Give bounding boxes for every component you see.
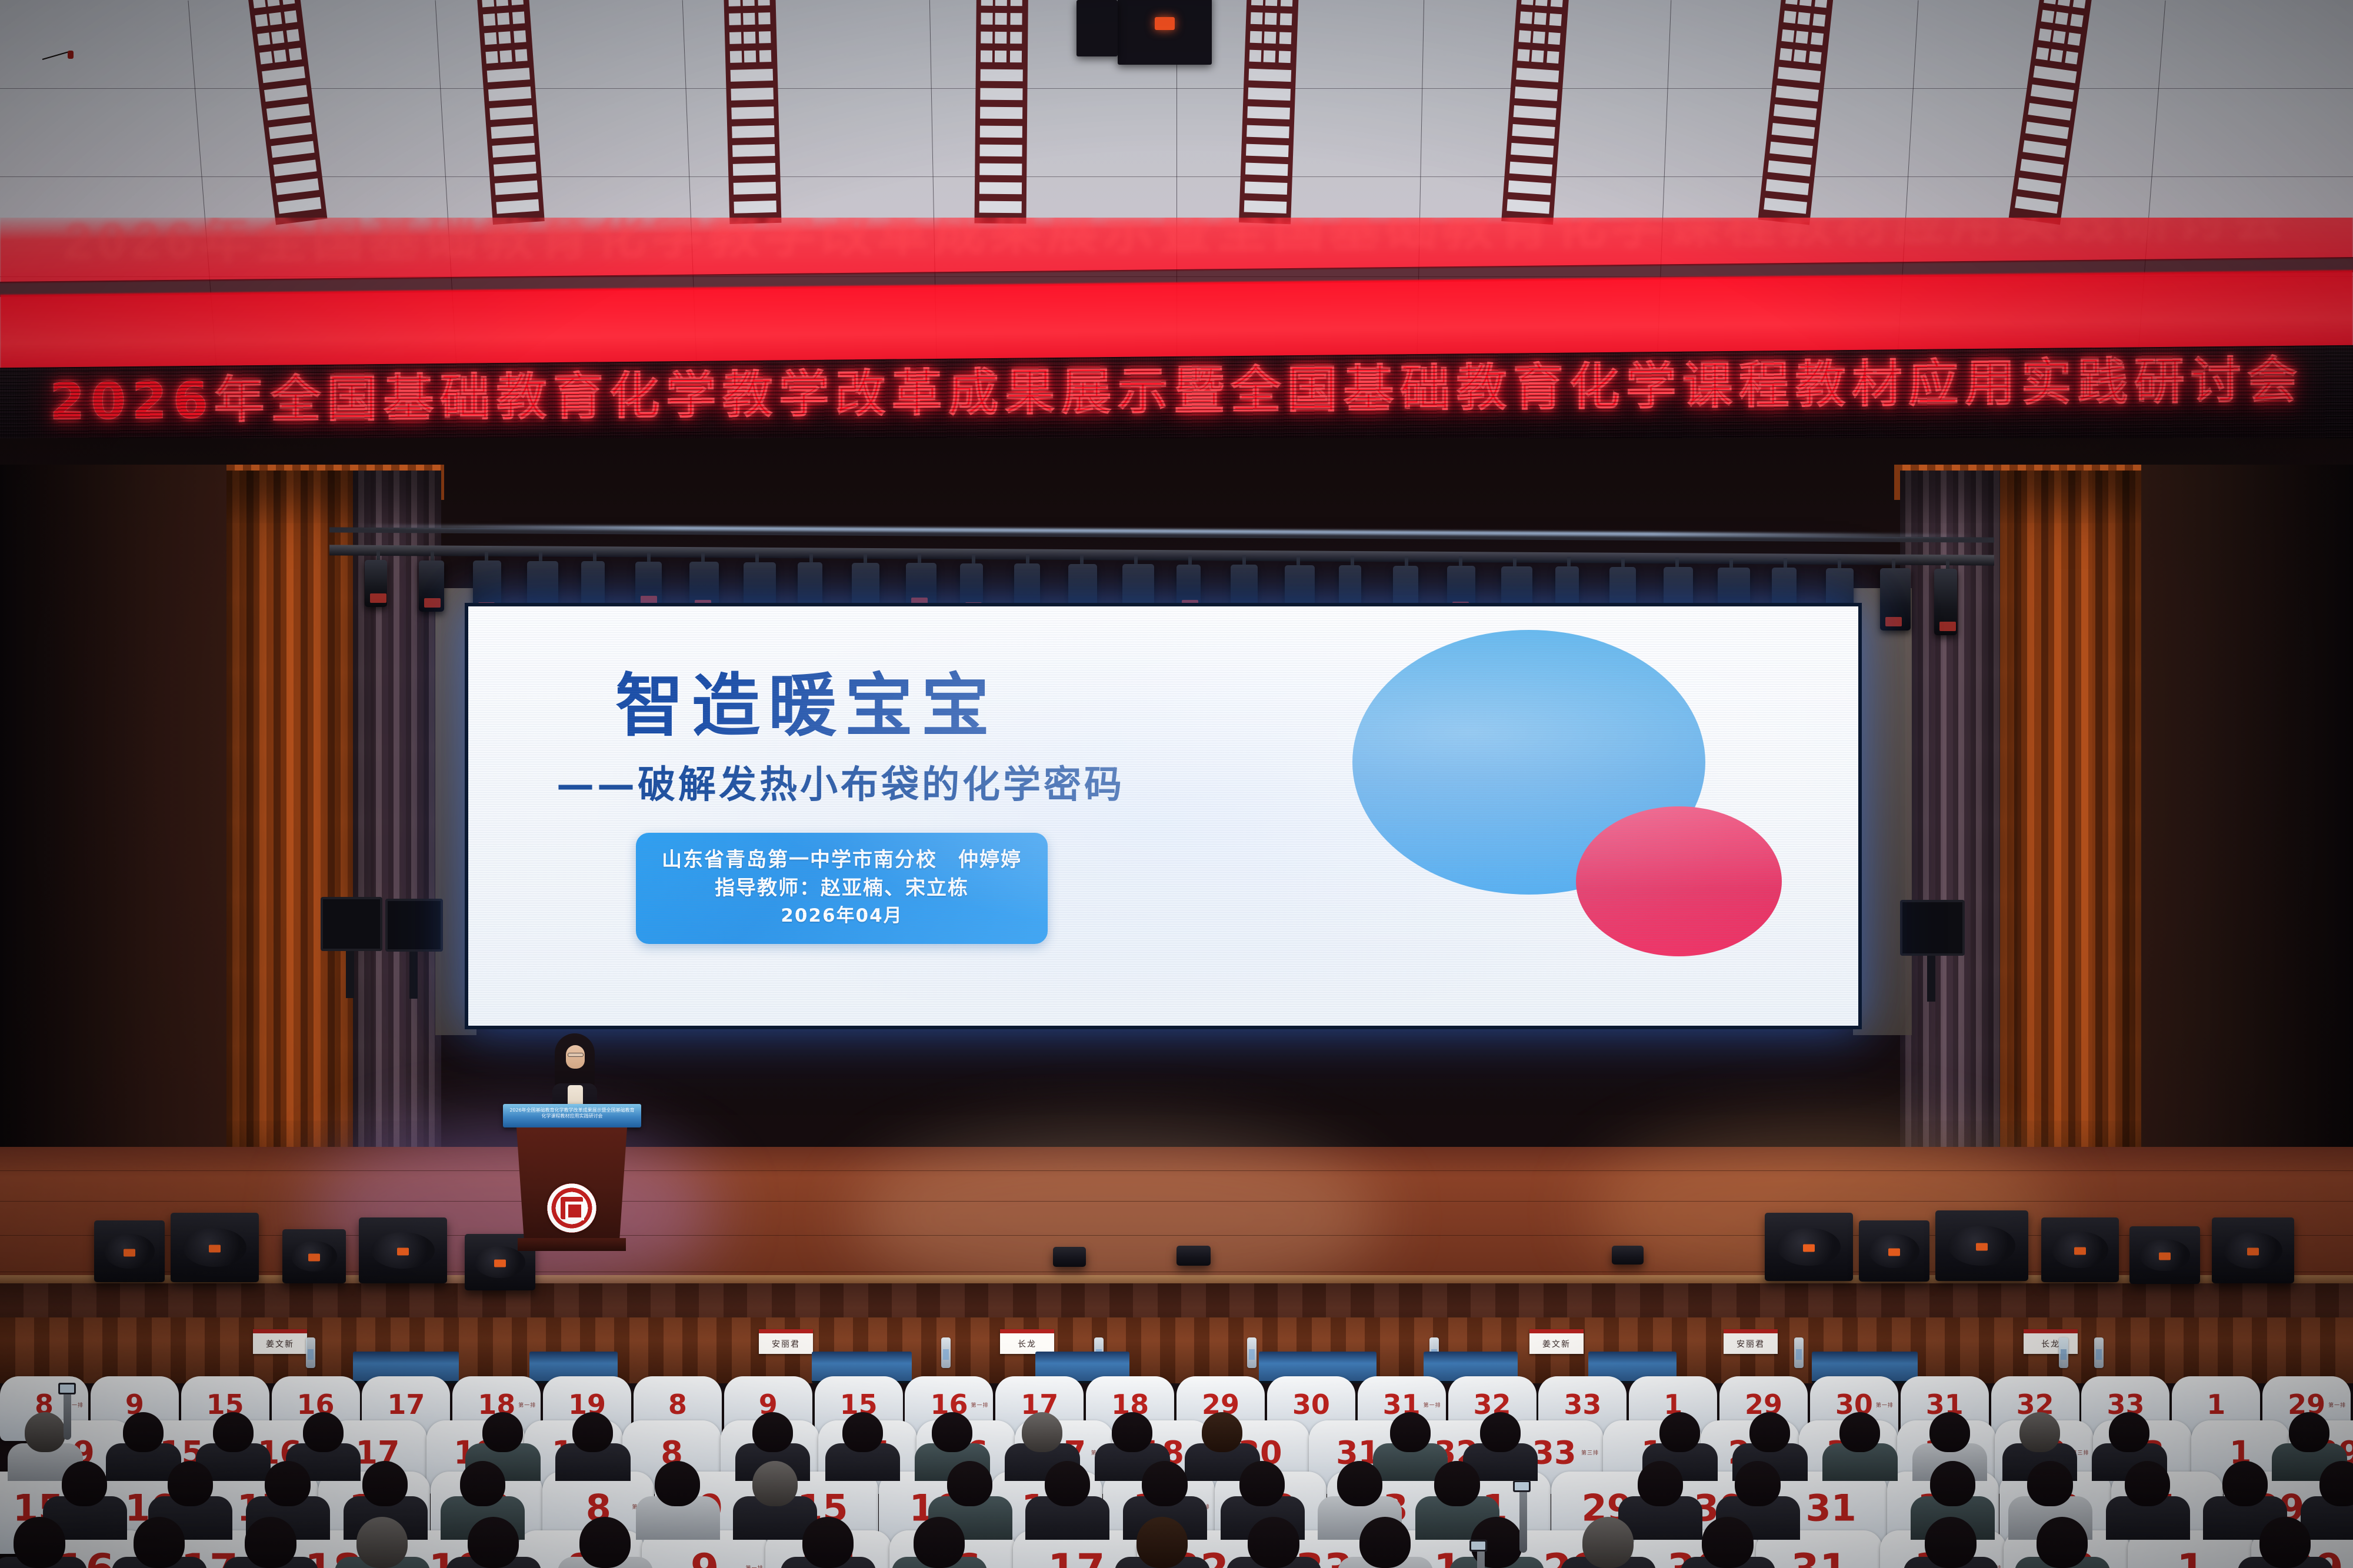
stage-light-fixture xyxy=(419,561,444,612)
rib-slat xyxy=(289,48,302,61)
floor-plank-seam xyxy=(0,1170,2353,1171)
seat-row-label: 第一排 xyxy=(518,1401,536,1409)
rib-slat xyxy=(497,12,509,25)
rib-slat xyxy=(496,199,539,214)
water-bottle xyxy=(306,1337,315,1368)
attendee-head xyxy=(123,1412,164,1452)
rib-slat xyxy=(1512,124,1555,139)
floor-plank-seam xyxy=(0,1201,2353,1202)
rib-slat xyxy=(1768,161,1811,176)
podium xyxy=(516,1127,627,1243)
rib-slat xyxy=(2028,103,2071,121)
rib-slat xyxy=(995,51,1006,62)
rib-slat xyxy=(1551,0,1563,7)
rib-slat xyxy=(1281,0,1293,6)
stage-floor-box xyxy=(1176,1246,1211,1266)
stage-monitor-tv-left-2 xyxy=(385,899,443,952)
jbl-badge-icon xyxy=(1888,1249,1900,1256)
attendee-head xyxy=(947,1461,992,1507)
rib-slat xyxy=(744,51,756,63)
rib-slat xyxy=(482,0,494,7)
rib-slat xyxy=(515,49,527,61)
rib-slat xyxy=(278,197,321,214)
attendee-head xyxy=(932,1412,972,1452)
attendee-head xyxy=(2019,1412,2060,1452)
rib-slat xyxy=(979,201,1022,213)
ceiling-rib xyxy=(1239,0,1299,224)
rib-slat xyxy=(744,32,756,44)
attendee-head xyxy=(1239,1461,1285,1507)
rib-slat xyxy=(995,0,1007,6)
ceiling-speaker xyxy=(1118,0,1212,65)
rib-slat xyxy=(732,125,774,138)
seat-number: 1 xyxy=(2177,1545,2205,1568)
seat-row-label: 第一排 xyxy=(1876,1401,1894,1409)
rib-slat xyxy=(1247,106,1290,120)
seat-row-label: 第三排 xyxy=(1581,1449,1599,1456)
rib-slat xyxy=(2044,0,2057,4)
presenter xyxy=(550,1033,599,1110)
attendee-head xyxy=(62,1461,107,1507)
attendee-head xyxy=(213,1412,254,1452)
rib-slat xyxy=(729,32,742,44)
rib-slat xyxy=(981,0,993,6)
rib-slat xyxy=(979,164,1022,176)
rib-slat xyxy=(489,105,532,120)
rib-slat xyxy=(1011,0,1022,6)
attendee-head xyxy=(362,1461,408,1507)
attendee-head xyxy=(2109,1412,2149,1452)
rib-slat xyxy=(1799,0,1812,6)
stage-floor-box xyxy=(1053,1247,1086,1267)
stage-light-fixture xyxy=(365,560,387,607)
rib-slat xyxy=(732,144,775,157)
rib-slat xyxy=(979,182,1022,195)
rib-slat xyxy=(269,12,282,25)
rib-slat xyxy=(733,163,775,176)
ceiling-horizontal-seam xyxy=(0,176,2353,177)
attendee-head xyxy=(579,1517,631,1568)
water-bottle xyxy=(1247,1337,1257,1368)
rib-slat xyxy=(1511,143,1554,158)
rib-slat xyxy=(1774,104,1817,120)
emblem-seal-glyph xyxy=(561,1197,583,1219)
rib-slat xyxy=(1507,199,1549,214)
name-card-text: 安丽君 xyxy=(1724,1338,1778,1350)
attendee-head xyxy=(752,1412,793,1452)
smartphone-camera[interactable] xyxy=(1513,1480,1531,1492)
rib-slat xyxy=(485,51,498,64)
rib-slat xyxy=(995,32,1006,44)
rib-slat xyxy=(1815,0,1828,8)
rib-slat xyxy=(2068,32,2081,46)
rib-slat xyxy=(1781,29,1794,42)
rib-slat xyxy=(1811,32,1824,45)
stage-monitor-speaker xyxy=(94,1220,165,1282)
rib-slat xyxy=(255,14,268,27)
rib-slat xyxy=(1515,86,1558,101)
rib-slat xyxy=(1794,49,1807,62)
attendee-head xyxy=(914,1517,965,1568)
attendee-head xyxy=(2289,1412,2329,1452)
rib-slat xyxy=(1548,32,1560,45)
attendee-head xyxy=(1735,1461,1780,1507)
rib-slat xyxy=(1547,51,1559,64)
stage-monitor-speaker xyxy=(1935,1210,2028,1281)
rib-slat xyxy=(1809,51,1822,64)
podium-banner-plate: 2026年全国基础教育化学教学改革成果展示暨全国基础教育化学课程教材应用实践研讨… xyxy=(503,1104,641,1127)
jbl-badge-icon xyxy=(2074,1247,2086,1255)
water-bottle xyxy=(941,1337,951,1368)
rib-slat xyxy=(1010,51,1022,62)
rib-slat xyxy=(2036,47,2049,61)
attendee-head xyxy=(1929,1412,1970,1452)
rib-slat xyxy=(1264,32,1277,44)
right-wood-wall xyxy=(2106,465,2353,1223)
rib-slat xyxy=(2015,196,2058,213)
attendee-head xyxy=(460,1461,505,1507)
stage-light-fixture xyxy=(1934,569,1957,635)
rib-slat xyxy=(498,31,511,44)
rib-slat xyxy=(495,181,538,195)
rib-slat xyxy=(275,178,319,195)
rib-slat xyxy=(1798,12,1811,25)
rib-slat xyxy=(2041,10,2055,24)
seat-row-label: 第一排 xyxy=(1424,1401,1441,1409)
led-banner-region: 2026年全国基础教育化学教学改革成果展示暨全国基础教育化学课程教材应用实践研讨… xyxy=(0,218,2353,453)
slide-title: 智造暖宝宝 xyxy=(615,650,998,749)
rib-slat xyxy=(2025,122,2069,139)
rib-slat xyxy=(2070,14,2084,28)
ceiling-rib xyxy=(476,0,545,225)
seat-number: 9 xyxy=(691,1545,719,1568)
rib-slat xyxy=(1265,0,1278,6)
rib-slat xyxy=(488,86,531,101)
acoustic-panel-right xyxy=(1853,588,1912,1035)
seat-number: 30 xyxy=(1292,1389,1330,1420)
rib-slat xyxy=(1519,30,1531,42)
name-card-text: 安丽君 xyxy=(759,1338,813,1350)
rib-slat xyxy=(271,141,315,158)
rib-slat xyxy=(1509,162,1552,176)
water-bottle xyxy=(2059,1337,2068,1368)
ceiling-rib xyxy=(247,0,327,225)
rib-slat xyxy=(729,13,741,25)
rib-slat xyxy=(257,32,270,45)
stage-monitor-speaker xyxy=(171,1213,259,1282)
rib-slat xyxy=(981,69,1023,82)
stage-monitor-speaker xyxy=(2041,1217,2119,1282)
attendee-head xyxy=(1638,1461,1683,1507)
ceiling-rib xyxy=(1501,0,1569,225)
rib-slat xyxy=(1264,51,1276,63)
attendee-head xyxy=(842,1412,883,1452)
rib-slat xyxy=(1279,51,1291,63)
attendee-head xyxy=(1112,1412,1152,1452)
rib-slat xyxy=(1812,14,1825,26)
rib-slat xyxy=(1795,31,1808,44)
ceiling-rib xyxy=(724,0,781,224)
rib-slat xyxy=(1549,14,1562,26)
attendee-head xyxy=(168,1461,213,1507)
seat-number: 17 xyxy=(1048,1545,1105,1568)
rib-slat xyxy=(484,32,496,45)
attendee-head xyxy=(134,1517,185,1568)
rib-slat xyxy=(728,0,741,6)
attendee-head xyxy=(265,1461,310,1507)
rib-slat xyxy=(284,11,297,24)
stage-floor-box xyxy=(1612,1246,1644,1265)
led-presentation-screen[interactable]: 智造暖宝宝 ——破解发热小布袋的化学密码 山东省青岛第一中学市南分校 仲婷婷 指… xyxy=(465,603,1862,1029)
rib-slat xyxy=(1785,0,1798,5)
stage-monitor-speaker xyxy=(359,1217,447,1283)
rib-slat xyxy=(274,159,317,176)
rib-slat xyxy=(2050,49,2064,62)
rib-slat xyxy=(266,0,279,6)
rib-slat xyxy=(1517,49,1529,61)
attendee-head xyxy=(572,1412,613,1452)
seat-number: 17 xyxy=(387,1389,425,1420)
rib-slat xyxy=(1265,13,1277,25)
rib-slat xyxy=(2065,51,2078,65)
attendee-head xyxy=(1434,1461,1479,1507)
rib-slat xyxy=(1516,68,1559,82)
rib-slat xyxy=(262,66,305,84)
rib-slat xyxy=(1245,163,1288,176)
rib-slat xyxy=(2033,66,2077,84)
attendee-head xyxy=(1659,1412,1700,1452)
presenter-face xyxy=(566,1045,585,1069)
rib-slat xyxy=(264,85,308,102)
rib-slat xyxy=(730,51,742,63)
attendee-head xyxy=(655,1461,700,1507)
attendee-head xyxy=(2222,1461,2268,1507)
info-line-school-author: 山东省青岛第一中学市南分校 仲婷婷 xyxy=(654,846,1030,874)
rib-slat xyxy=(731,106,774,119)
rib-slat xyxy=(483,14,495,26)
attendee-name-card: 姜文新 xyxy=(1529,1329,1584,1354)
info-line-date: 2026年04月 xyxy=(654,903,1030,929)
ceiling-horizontal-seam xyxy=(0,88,2353,89)
attendee-head xyxy=(1045,1461,1090,1507)
seat-number: 33 xyxy=(1532,1434,1576,1472)
audience-area: 姜文新安丽君长龙姜文新安丽君长龙 8第一排915161718第一排1989151… xyxy=(0,1317,2353,1568)
attendee-head xyxy=(1359,1517,1411,1568)
attendee-head xyxy=(1248,1517,1299,1568)
name-card-text: 姜文新 xyxy=(253,1338,307,1350)
rib-slat xyxy=(487,68,530,82)
rib-slat xyxy=(1251,0,1264,5)
seat-number: 1 xyxy=(2207,1389,2225,1420)
rib-slat xyxy=(743,13,755,25)
stage-light-fixture xyxy=(1880,568,1911,630)
ceiling-rib xyxy=(1758,0,1834,225)
rib-slat xyxy=(1778,66,1821,82)
attendee-head xyxy=(14,1517,65,1568)
name-card-text: 长龙 xyxy=(2024,1338,2078,1350)
attendee-head xyxy=(1930,1461,1975,1507)
rib-slat xyxy=(496,0,508,6)
podium-banner-text: 2026年全国基础教育化学教学改革成果展示暨全国基础教育化学课程教材应用实践研讨… xyxy=(509,1107,635,1124)
jbl-badge-icon xyxy=(124,1249,135,1256)
tv-stand-right xyxy=(1927,956,1935,1002)
glasses-icon xyxy=(568,1053,584,1057)
attendee-arm xyxy=(64,1390,71,1440)
rib-slat xyxy=(499,50,512,62)
attendee-head xyxy=(2027,1461,2072,1507)
attendee-arm xyxy=(1519,1489,1527,1553)
rib-slat xyxy=(1244,201,1287,214)
slide-info-box: 山东省青岛第一中学市南分校 仲婷婷 指导教师：赵亚楠、宋立栋 2026年04月 xyxy=(636,833,1048,944)
rib-slat xyxy=(1532,31,1545,44)
seat-number: 31 xyxy=(1805,1486,1856,1529)
name-card-text: 长龙 xyxy=(1000,1338,1054,1350)
stage-monitor-speaker xyxy=(2212,1217,2294,1283)
seat-number: 31 xyxy=(1791,1545,1848,1568)
rib-slat xyxy=(742,0,755,6)
rib-slat xyxy=(511,0,524,5)
attendee-head xyxy=(2125,1461,2170,1507)
rib-slat xyxy=(494,162,536,176)
attendee-head xyxy=(1390,1412,1431,1452)
rib-slat xyxy=(2073,0,2087,8)
rib-slat xyxy=(259,51,272,64)
rib-slat xyxy=(269,122,312,139)
slide-surface: 智造暖宝宝 ——破解发热小布袋的化学密码 山东省青岛第一中学市南分校 仲婷婷 指… xyxy=(468,606,1858,1026)
rib-slat xyxy=(980,145,1022,157)
rib-slat xyxy=(2020,159,2064,176)
seat-row-label: 第一排 xyxy=(746,1564,764,1568)
tv-stand-left-1 xyxy=(346,951,354,998)
ceiling-rib xyxy=(2009,0,2093,225)
attendee-head xyxy=(356,1517,408,1568)
rib-slat xyxy=(1534,12,1547,25)
rib-slat xyxy=(252,0,265,8)
rib-slat xyxy=(1766,179,1809,195)
rib-slat xyxy=(758,12,771,25)
attendee-head xyxy=(468,1517,519,1568)
attendee-head xyxy=(752,1461,798,1507)
red-ellipse-icon xyxy=(1576,806,1782,956)
podium-base xyxy=(518,1238,626,1251)
attendee-head xyxy=(1839,1412,1880,1452)
water-bottle xyxy=(1794,1337,1804,1368)
rib-slat xyxy=(1246,144,1289,158)
jbl-badge-icon xyxy=(494,1259,506,1267)
rib-slat xyxy=(2055,12,2068,25)
stage-curtain-left xyxy=(226,471,362,1217)
ceiling-speaker-left xyxy=(1076,0,1118,56)
rib-slat xyxy=(1514,105,1557,120)
jbl-badge-icon xyxy=(209,1245,221,1253)
attendee-head xyxy=(2037,1517,2088,1568)
rib-slat xyxy=(734,182,776,195)
rib-slat xyxy=(274,49,286,62)
seat-row-label: 第一排 xyxy=(971,1401,988,1409)
rib-slat xyxy=(981,51,992,62)
rib-slat xyxy=(2038,28,2052,42)
attendee-head xyxy=(1142,1461,1187,1507)
rib-slat xyxy=(1521,0,1534,5)
rib-slat xyxy=(995,13,1006,25)
attendee-head xyxy=(245,1517,296,1568)
rib-slat xyxy=(731,88,773,101)
smartphone-camera[interactable] xyxy=(58,1383,76,1394)
rib-slat xyxy=(1245,182,1288,195)
attendee-head xyxy=(1925,1517,1976,1568)
rib-slat xyxy=(980,88,1022,101)
rib-slat xyxy=(1251,12,1263,25)
stage-curtain-right xyxy=(1994,471,2141,1217)
auditorium-photo: 2026年全国基础教育化学教学改革成果展示暨全国基础教育化学课程教材应用实践研讨… xyxy=(0,0,2353,1568)
attendee-head xyxy=(482,1412,523,1452)
stage-monitor-speaker xyxy=(2129,1226,2200,1284)
jbl-logo-badge xyxy=(1155,17,1175,30)
rib-slat xyxy=(1531,50,1544,62)
rib-slat xyxy=(1764,198,1807,213)
attendee-name-card: 安丽君 xyxy=(1724,1329,1778,1354)
attendee-head xyxy=(1749,1412,1790,1452)
rib-slat xyxy=(1010,32,1022,44)
rib-slat xyxy=(1250,31,1262,44)
rib-slat xyxy=(512,12,525,24)
attendee-head xyxy=(1480,1412,1521,1452)
attendee-head xyxy=(1702,1517,1753,1568)
rib-slat xyxy=(1247,125,1289,139)
rib-slat xyxy=(734,201,776,213)
attendee-head xyxy=(1337,1461,1382,1507)
rib-slat xyxy=(491,124,534,139)
rib-slat xyxy=(1772,123,1815,139)
attendee-head xyxy=(303,1412,344,1452)
rib-slat xyxy=(759,50,772,62)
rib-slat xyxy=(1010,13,1022,25)
rib-slat xyxy=(1520,11,1532,24)
attendee-head xyxy=(1202,1412,1242,1452)
rib-slat xyxy=(1775,85,1819,101)
rib-slat xyxy=(731,69,773,82)
rib-slat xyxy=(2023,140,2067,158)
microphone-icon xyxy=(68,51,74,59)
smartphone-camera[interactable] xyxy=(1469,1540,1487,1552)
stage-monitor-speaker xyxy=(282,1229,346,1283)
jbl-badge-icon xyxy=(1976,1243,1988,1251)
attendee-head xyxy=(2259,1517,2311,1568)
rib-slat xyxy=(514,30,526,42)
rib-slat xyxy=(1280,13,1292,25)
rib-slat xyxy=(1508,181,1551,195)
rib-slat xyxy=(1279,32,1292,44)
stage-monitor-tv-right xyxy=(1900,900,1965,956)
jbl-badge-icon xyxy=(308,1253,320,1261)
rib-slat xyxy=(492,143,535,158)
stage-monitor-tv-left-1 xyxy=(321,897,382,951)
stage-monitor-speaker xyxy=(1765,1213,1853,1281)
tv-stand-left-2 xyxy=(409,952,418,999)
rib-slat xyxy=(1249,50,1262,62)
attendee-name-card: 安丽君 xyxy=(759,1329,813,1354)
stage-light-fixture xyxy=(635,562,662,609)
jbl-badge-icon xyxy=(2159,1252,2171,1260)
seat-number: 8 xyxy=(668,1389,687,1420)
jbl-badge-icon xyxy=(2247,1248,2259,1256)
water-bottle xyxy=(2094,1337,2104,1368)
rib-slat xyxy=(271,31,284,44)
name-card-text: 姜文新 xyxy=(1529,1338,1584,1350)
stage-monitor-speaker xyxy=(1859,1220,1929,1282)
rib-slat xyxy=(1535,0,1548,6)
rib-slat xyxy=(758,0,770,6)
